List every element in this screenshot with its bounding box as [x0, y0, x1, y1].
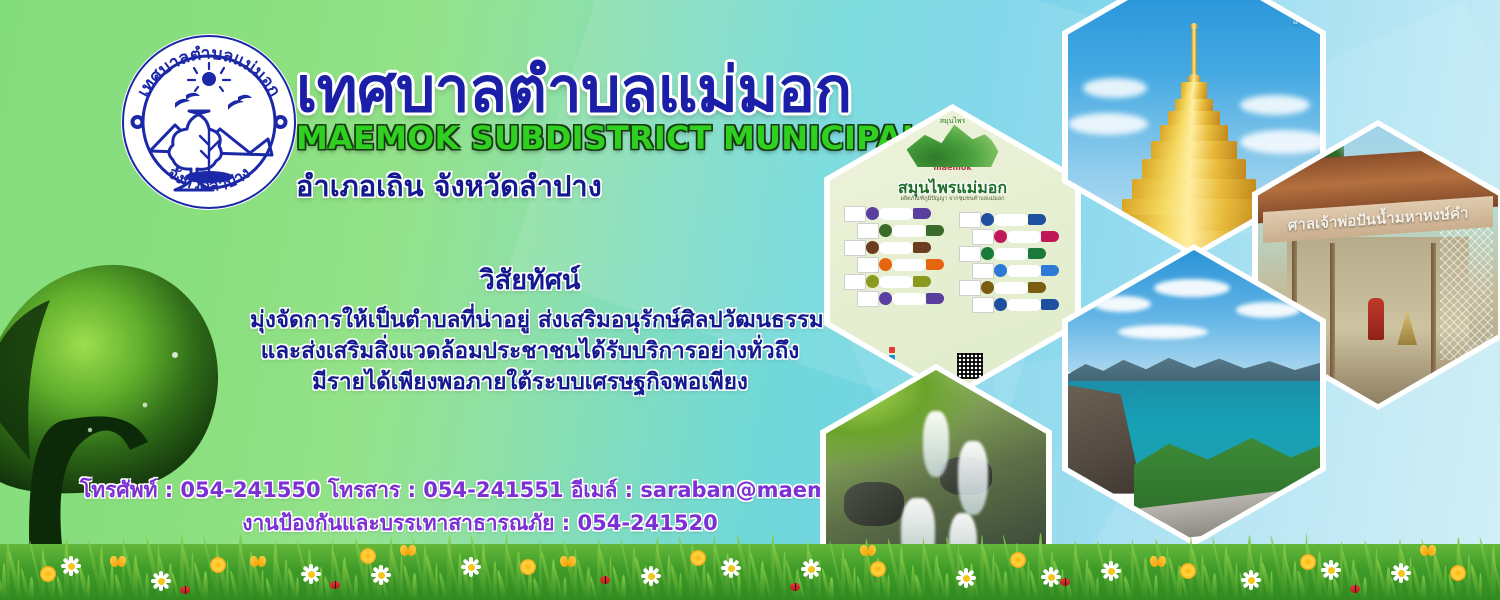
- product-box-icon: [857, 291, 879, 307]
- poster-product-item: [844, 206, 931, 221]
- daisy-flower: [1100, 560, 1122, 582]
- daisy-flower: [800, 558, 822, 580]
- butterfly-icon: [1420, 545, 1436, 557]
- poster-product-item: [959, 280, 1046, 295]
- color-chip: [994, 298, 1007, 311]
- product-box-icon: [844, 274, 866, 290]
- color-bar: [926, 225, 944, 236]
- product-label: [1007, 299, 1041, 311]
- color-bar: [913, 242, 931, 253]
- yellow-flower: [520, 559, 536, 575]
- yellow-flower: [210, 557, 226, 573]
- yellow-flower: [690, 550, 706, 566]
- butterfly-icon: [400, 545, 416, 557]
- color-chip: [866, 275, 879, 288]
- yellow-flower: [870, 561, 886, 577]
- color-chip: [879, 258, 892, 271]
- yellow-flower: [1010, 552, 1026, 568]
- color-chip: [866, 241, 879, 254]
- product-box-icon: [844, 240, 866, 256]
- color-bar: [1028, 282, 1046, 293]
- butterfly-icon: [1150, 556, 1166, 568]
- color-bar: [926, 259, 944, 270]
- butterfly-icon: [250, 556, 266, 568]
- vision-block: วิสัยทัศน์ มุ่งจัดการให้เป็นตำบลที่น่าอย…: [250, 258, 810, 398]
- color-chip: [981, 213, 994, 226]
- butterfly-icon: [110, 556, 126, 568]
- pagoda-structure: [1119, 42, 1269, 252]
- color-bar: [1041, 265, 1059, 276]
- product-box-icon: [972, 297, 994, 313]
- product-box-icon: [972, 229, 994, 245]
- product-label: [879, 242, 913, 254]
- vision-heading: วิสัยทัศน์: [250, 258, 810, 301]
- vision-line-3: มีรายได้เพียงพอภายใต้ระบบเศรษฐกิจพอเพียง: [250, 367, 810, 398]
- vision-line-1: มุ่งจัดการให้เป็นตำบลที่น่าอยู่ ส่งเสริม…: [250, 305, 810, 336]
- yellow-flower: [1300, 554, 1316, 570]
- daisy-flower: [460, 556, 482, 578]
- yellow-flower: [40, 566, 56, 582]
- product-label: [892, 293, 926, 305]
- poster-product-item: [972, 229, 1059, 244]
- product-box-icon: [857, 257, 879, 273]
- color-bar: [926, 293, 944, 304]
- daisy-flower: [1320, 559, 1342, 581]
- poster-product-item: [972, 297, 1059, 312]
- ladybug-icon: [1060, 578, 1070, 586]
- color-bar: [1028, 214, 1046, 225]
- product-label: [1007, 231, 1041, 243]
- vision-line-2: และส่งเสริมสิ่งแวดล้อมประชาชนได้รับบริกา…: [250, 336, 810, 367]
- daisy-flower: [370, 564, 392, 586]
- color-chip: [981, 281, 994, 294]
- color-chip: [994, 230, 1007, 243]
- poster-product-item: [959, 212, 1046, 227]
- municipality-emblem: เทศบาลตำบลแม่มอก จังหวัดลำปาง: [120, 33, 298, 211]
- daisy-flower: [640, 565, 662, 587]
- poster-product-item: [857, 223, 944, 238]
- poster-product-grid: [844, 206, 1065, 346]
- color-chip: [879, 224, 892, 237]
- municipality-banner: เทศบาลตำบลแม่มอก จังหวัดลำปาง เทศบาลตำบล…: [0, 0, 1500, 600]
- color-bar: [1041, 299, 1059, 310]
- ladybug-icon: [600, 576, 610, 584]
- thai-title: เทศบาลตำบลแม่มอก: [296, 58, 980, 121]
- color-chip: [994, 264, 1007, 277]
- product-label: [994, 214, 1028, 226]
- qr-code-icon: [957, 353, 983, 379]
- color-bar: [1041, 231, 1059, 242]
- product-label: [1007, 265, 1041, 277]
- ladybug-icon: [1350, 585, 1360, 593]
- color-bar: [913, 208, 931, 219]
- color-chip: [981, 247, 994, 260]
- color-bar: [913, 276, 931, 287]
- daisy-flower: [720, 557, 742, 579]
- product-box-icon: [844, 206, 866, 222]
- daisy-flower: [300, 563, 322, 585]
- poster-subtitle: ผลิตภัณฑ์ภูมิปัญญา จากชุมชนตำบลแม่มอก: [830, 195, 1075, 203]
- daisy-flower: [1240, 569, 1262, 591]
- product-box-icon: [959, 212, 981, 228]
- poster-product-item: [844, 240, 931, 255]
- product-label: [892, 259, 926, 271]
- ladybug-icon: [180, 586, 190, 594]
- poster-product-item: [857, 257, 944, 272]
- yellow-flower: [1450, 565, 1466, 581]
- product-label: [879, 276, 913, 288]
- ladybug-icon: [330, 581, 340, 589]
- ladybug-icon: [790, 583, 800, 591]
- product-box-icon: [959, 280, 981, 296]
- daisy-flower: [60, 555, 82, 577]
- poster-product-item: [844, 274, 931, 289]
- yellow-flower: [1180, 563, 1196, 579]
- poster-product-item: [972, 263, 1059, 278]
- butterfly-icon: [860, 545, 876, 557]
- product-label: [879, 208, 913, 220]
- daisy-flower: [150, 570, 172, 592]
- butterfly-icon: [560, 556, 576, 568]
- grass-flowers-strip: [0, 522, 1500, 600]
- product-label: [994, 282, 1028, 294]
- poster-product-item: [959, 246, 1046, 261]
- color-bar: [1028, 248, 1046, 259]
- product-box-icon: [857, 223, 879, 239]
- shrine-statue: [1368, 298, 1384, 340]
- contact-line-phone-fax-email[interactable]: โทรศัพท์ : 054-241550 โทรสาร : 054-24155…: [80, 474, 820, 507]
- poster-product-item: [857, 291, 944, 306]
- product-label: [994, 248, 1028, 260]
- daisy-flower: [1390, 562, 1412, 584]
- yellow-flower: [360, 548, 376, 564]
- color-chip: [866, 207, 879, 220]
- product-box-icon: [959, 246, 981, 262]
- daisy-flower: [1040, 566, 1062, 588]
- color-chip: [879, 292, 892, 305]
- product-label: [892, 225, 926, 237]
- product-box-icon: [972, 263, 994, 279]
- daisy-flower: [955, 567, 977, 589]
